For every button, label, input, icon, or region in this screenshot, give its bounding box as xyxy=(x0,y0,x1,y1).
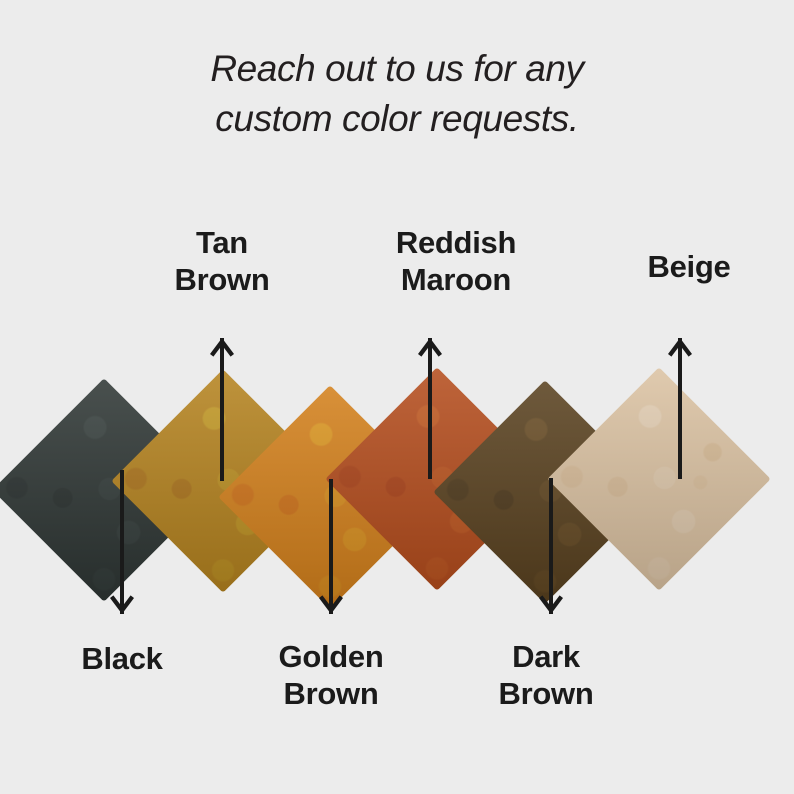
arrow-head xyxy=(538,592,564,614)
arrow-up-icon xyxy=(667,338,693,479)
color-swatch-page: Reach out to us for any custom color req… xyxy=(0,0,794,794)
arrow-head xyxy=(667,338,693,360)
arrow-down-icon xyxy=(109,470,135,614)
swatch-label: Beige xyxy=(559,248,794,285)
swatch-label: Dark Brown xyxy=(416,638,676,712)
arrow-head xyxy=(209,338,235,360)
arrow-head xyxy=(318,592,344,614)
swatch-label: Tan Brown xyxy=(92,224,352,298)
arrow-up-icon xyxy=(417,338,443,479)
arrow-head xyxy=(417,338,443,360)
arrow-down-icon xyxy=(538,478,564,614)
arrow-head xyxy=(109,592,135,614)
swatch-label: Reddish Maroon xyxy=(326,224,586,298)
arrow-up-icon xyxy=(209,338,235,481)
swatch-stage: BlackTan BrownGolden BrownReddish Maroon… xyxy=(0,0,794,794)
arrow-down-icon xyxy=(318,479,344,614)
